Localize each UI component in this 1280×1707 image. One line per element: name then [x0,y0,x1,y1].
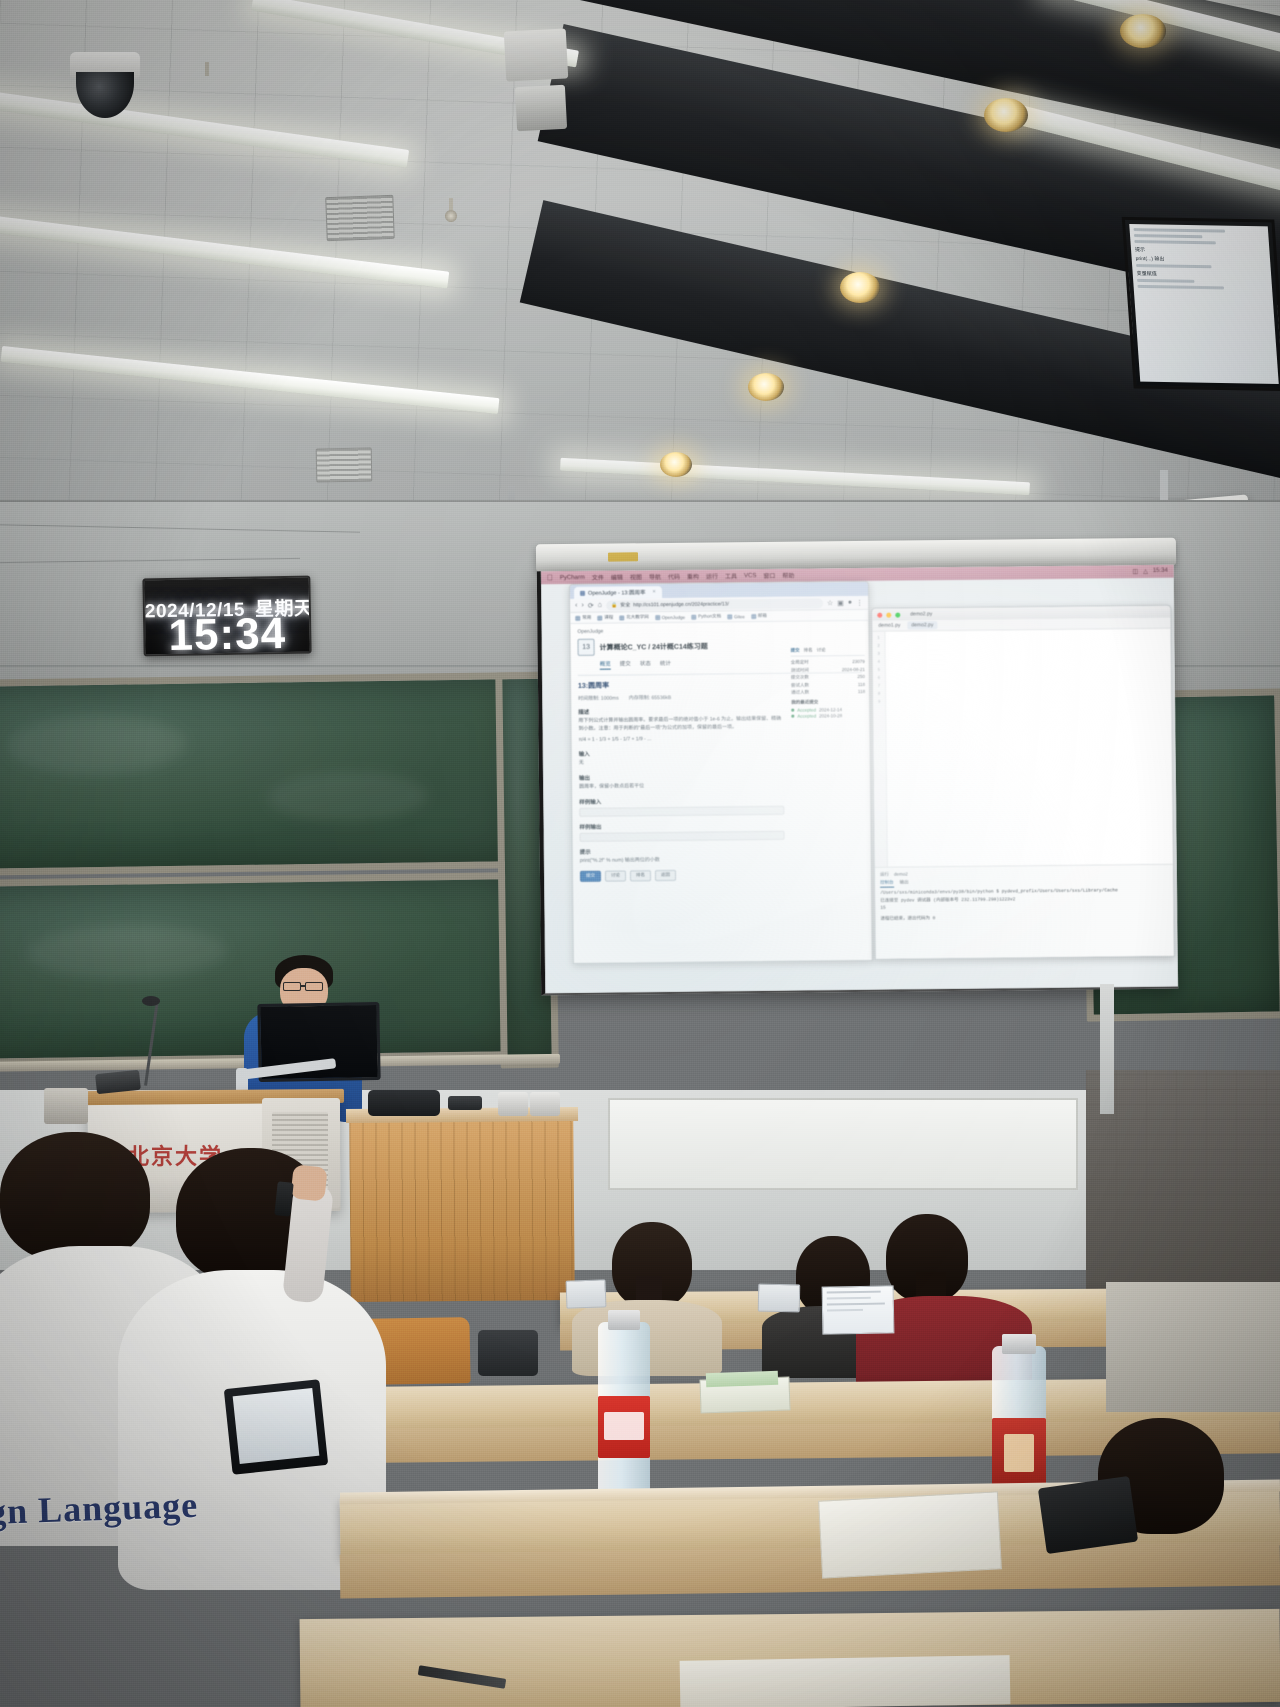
stats-sub-heading: 我的最近提交 [791,699,865,706]
problem-stats-panel: 提交 排名 讨论 全局定时23079 测试时间2024-08-21 提交次数25… [791,647,866,719]
laptop-screen [822,1285,895,1334]
section-body-input: 无 [579,758,784,768]
menubar-clock: 15:34 [1153,568,1168,575]
box-on-table-2 [530,1092,560,1116]
blackboard-left-upper [0,672,521,876]
bookmark-1[interactable]: 课程 [597,615,613,621]
site-name: OpenJudge [577,626,861,635]
menu-kebab-icon[interactable]: ⋮ [856,598,863,606]
breadcrumb: 计算概论C_YC / 24计概C14练习题 [600,641,708,652]
stats-row-2: 提交次数250 [791,674,865,681]
action-buttons: 提交 讨论 排名 返回 [580,868,785,881]
time-limit: 时间限制: 1000ms [578,694,619,701]
hvac-vent [325,195,394,241]
box-on-table [498,1092,528,1116]
section-heading-output: 输出 [579,772,784,782]
tab-status[interactable]: 状态 [640,659,651,669]
side-counter [1106,1282,1280,1412]
stats-row-1: 测试时间2024-08-21 [791,666,865,673]
menubar-item-6[interactable]: 运行 [706,571,718,580]
ceiling-projector-lens [515,85,567,132]
bottle-label-panel [604,1412,644,1440]
console-tab-console[interactable]: 控制台 [880,880,894,888]
problem-page: OpenJudge 13 计算概论C_YC / 24计概C14练习题 概览 提交… [570,621,871,887]
lower-whiteboard [608,1098,1078,1190]
discuss-button[interactable]: 讨论 [605,870,626,881]
apple-logo-icon:  [547,573,553,582]
menubar-item-7[interactable]: 工具 [725,571,737,580]
stats-row-3: 尝试人数118 [791,681,865,688]
submission-row-1[interactable]: Accepted 2024-10-28 [791,713,865,719]
screen-brand-badge [608,552,638,561]
section-heading-sample-input: 样例输入 [579,796,784,806]
side-monitor-line-1: print(...) 输出 [1135,255,1266,264]
side-monitor-line-2: 变量赋值 [1136,270,1267,279]
ceiling-downlight [748,373,784,401]
url-security-label: 安全 [620,601,630,608]
side-monitor-line-0: 提示 [1135,246,1266,255]
forward-icon[interactable]: › [581,602,583,609]
paper-sheet-bottom [680,1655,1011,1707]
reload-icon[interactable]: ⟳ [588,601,594,609]
ceiling-downlight [660,452,692,477]
glasses-right-lens-icon [305,982,323,991]
stats-tab-discuss[interactable]: 讨论 [817,647,826,653]
stats-tab-submit[interactable]: 提交 [791,648,800,654]
console-line-3: 进程已结束，退出代码为 0 [880,913,1168,923]
sample-input-box [579,806,784,817]
wall-seam [0,500,1280,502]
run-configuration[interactable]: demo2 [894,870,908,877]
lock-icon: 🔒 [611,602,617,608]
bookmark-3[interactable]: OpenJudge [655,614,685,619]
screen-side-post [1100,984,1114,1114]
menubar-app-name: PyCharm [560,574,585,580]
glasses-bridge [301,985,306,987]
battery-icon: ◫ [1132,568,1138,575]
status-dot-icon [791,708,794,711]
section-heading-input: 输入 [579,748,784,758]
wifi-icon: △ [1143,568,1148,575]
brick-wall-right [1086,1070,1280,1300]
url-text: http://cs101.openjudge.cn/2024practice/1… [633,601,729,608]
menubar-item-4[interactable]: 代码 [668,572,680,581]
home-icon[interactable]: ⌂ [598,602,602,609]
pycharm-body: 1 2 3 4 5 6 7 8 9 [872,629,1172,867]
glasses-left-lens-icon [283,982,301,991]
wooden-table [349,1114,575,1302]
bag-on-table [368,1090,440,1116]
menubar-item-3[interactable]: 导航 [649,572,661,581]
hvac-vent [316,448,373,483]
section-heading-sample-output: 样例输出 [579,821,784,831]
hand [290,1164,327,1201]
pycharm-window: demo2.py demo1.py demo2.py 1 2 3 4 5 6 7… [871,605,1175,960]
console-tabs: 控制台 输出 [880,877,1168,888]
microphone-head-icon [142,996,160,1006]
led-wall-clock: 2024/12/15星期天 15:34 [142,576,311,657]
stats-tab-rank[interactable]: 排名 [804,647,813,653]
lecture-hall-photo: 提示 print(...) 输出 变量赋值 2024/12/15星期天 15:3… [0,0,1280,1707]
laptop [758,1284,800,1313]
ceiling-projector-box [504,28,569,81]
submission-row-0[interactable]: Accepted 2024-12-14 [791,706,865,712]
menubar-status-area: ◫ △ 15:34 [1132,568,1167,575]
stats-tabs: 提交 排名 讨论 [791,647,865,657]
submit-button[interactable]: 提交 [580,870,601,881]
sample-output-box [580,831,785,842]
maximize-traffic-light-icon[interactable] [895,612,900,617]
bookmark-5[interactable]: Gitee [727,614,745,619]
stats-row-0: 全局定时23079 [791,659,865,666]
menubar-item-0[interactable]: 文件 [592,573,604,582]
pycharm-window-title: demo2.py [910,611,932,617]
bottle-cap [608,1310,640,1330]
close-traffic-light-icon[interactable] [877,612,882,617]
profile-icon[interactable]: ● [848,599,852,606]
tab-overview[interactable]: 概览 [600,660,611,670]
notebook-cover [706,1371,778,1388]
editor-tab-demo2[interactable]: demo2.py [907,621,937,629]
bookmark-4[interactable]: Python文档 [691,613,721,619]
menubar-item-8[interactable]: VCS [744,573,756,579]
ceiling-downlight [984,98,1028,132]
section-body-output: 圆周率，保留小数点后若干位 [579,782,784,792]
clock-time: 15:34 [145,612,310,657]
ceiling-downlight [1120,14,1166,48]
tab-submit[interactable]: 提交 [620,659,631,669]
student-head-foreground [0,1132,150,1262]
stats-row-4: 通过人数118 [791,689,865,696]
side-wall-monitor: 提示 print(...) 输出 变量赋值 [1122,217,1280,391]
close-tab-icon[interactable]: × [652,589,655,595]
section-body-description: 用下列公式计算并输出圆周率。要求最后一项的绝对值小于 1e-6 为止。输出结果保… [578,716,783,734]
laptop [566,1279,607,1308]
section-heading-hint: 提示 [580,846,785,856]
browser-tab-active[interactable]: OpenJudge - 13:圆周率 × [574,586,662,599]
memory-limit: 内存限制: 65536kB [629,694,672,701]
sprinkler-stem [205,62,209,76]
menubar-item-9[interactable]: 窗口 [763,571,775,580]
problem-number-icon: 13 [578,639,595,656]
bottle-label-panel [1004,1434,1034,1472]
extensions-icon[interactable]: ▣ [837,599,844,607]
projection-screen:  PyCharm 文件 编辑 视图 导航 代码 重构 运行 工具 VCS 窗口… [537,565,1178,996]
star-icon[interactable]: ☆ [827,599,833,607]
ranking-button[interactable]: 排名 [630,870,651,881]
favicon-icon [580,590,585,595]
side-monitor-content: 提示 print(...) 输出 变量赋值 [1129,224,1279,384]
back-icon[interactable]: ‹ [575,602,577,609]
bag-on-desk [478,1330,538,1376]
back-button[interactable]: 返回 [655,869,676,880]
status-dot-icon [791,715,794,718]
bookmark-0[interactable]: 常用 [575,615,591,621]
laptop-foreground [1038,1476,1138,1554]
podium-equipment-box [44,1088,88,1124]
device-on-table [448,1096,482,1110]
paper-sheet [818,1491,1002,1578]
menubar-item-1[interactable]: 编辑 [611,572,623,581]
tab-statistics[interactable]: 统计 [660,659,671,669]
bottle-cap [1002,1334,1036,1354]
browser-window: OpenJudge - 13:圆周率 × ‹ › ⟳ ⌂ 🔒 安全 http:/… [569,581,873,964]
address-bar[interactable]: 🔒 安全 http://cs101.openjudge.cn/2024pract… [606,598,823,610]
editor-tab-demo1[interactable]: demo1.py [878,623,900,629]
menubar-item-2[interactable]: 视图 [630,572,642,581]
run-console: 运行 demo2 控制台 输出 /Users/sxs/miniconda3/en… [875,864,1174,960]
formula-text: π/4 = 1 - 1/3 + 1/5 - 1/7 + 1/9 - ... [579,734,784,744]
section-body-hint: print("%.2f" % num) 输出两位的小数 [580,856,785,866]
minimize-traffic-light-icon[interactable] [886,612,891,617]
sprinkler-head-icon [445,210,457,222]
bookmark-6[interactable]: 邮箱 [751,613,767,619]
section-heading-description: 描述 [578,706,783,716]
run-label: 运行 [880,871,889,878]
menubar-item-10[interactable]: 帮助 [782,571,794,580]
bookmark-2[interactable]: 北大教学网 [619,614,649,620]
code-editor[interactable] [885,629,1172,867]
menubar-item-5[interactable]: 重构 [687,572,699,581]
tablet-screen [233,1388,320,1464]
console-tab-output[interactable]: 输出 [900,880,909,888]
ceiling-downlight [840,272,880,303]
browser-tab-title: OpenJudge - 13:圆周率 [588,588,646,597]
